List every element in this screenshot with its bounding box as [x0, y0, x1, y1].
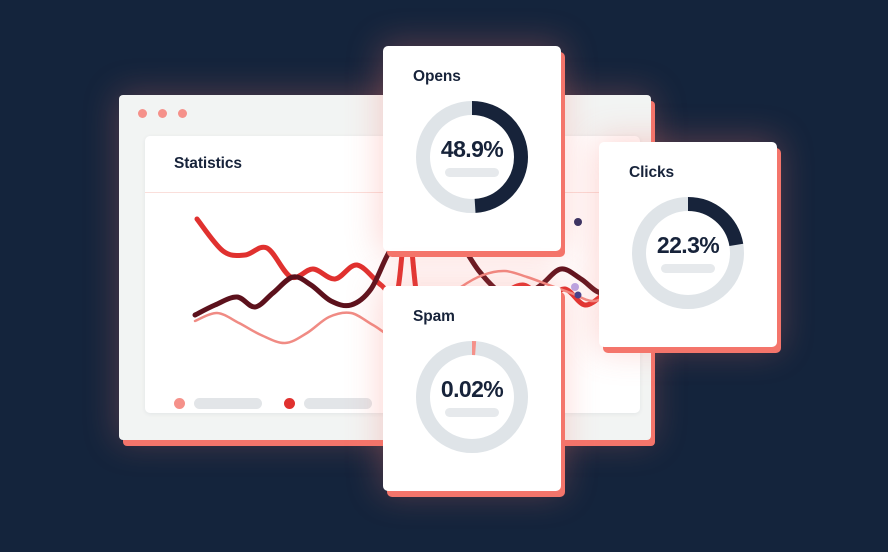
metric-value-spam: 0.02%	[441, 378, 503, 401]
metric-subbar-clicks	[661, 264, 715, 273]
close-dot[interactable]	[138, 109, 147, 118]
metric-subbar-opens	[445, 168, 499, 177]
donut-center-opens: 48.9%	[413, 98, 531, 216]
donut-chart-clicks: 22.3%	[629, 194, 747, 312]
donut-chart-opens: 48.9%	[413, 98, 531, 216]
metric-value-opens: 48.9%	[441, 138, 503, 161]
donut-wrap-opens: 48.9%	[413, 98, 531, 216]
metric-value-clicks: 22.3%	[657, 234, 719, 257]
donut-wrap-spam: 0.02%	[413, 338, 531, 456]
page-title: Statistics	[174, 155, 242, 173]
card-title-opens: Opens	[413, 68, 461, 86]
maximize-dot[interactable]	[178, 109, 187, 118]
metric-subbar-spam	[445, 408, 499, 417]
metric-card-spam[interactable]: Spam 0.02%	[383, 286, 561, 491]
donut-wrap-clicks: 22.3%	[629, 194, 747, 312]
legend-color-dot	[284, 398, 295, 409]
metric-card-clicks[interactable]: Clicks 22.3%	[599, 142, 777, 347]
window-traffic-lights	[138, 109, 187, 118]
legend-item[interactable]	[284, 398, 372, 409]
legend-item[interactable]	[174, 398, 262, 409]
donut-chart-spam: 0.02%	[413, 338, 531, 456]
minimize-dot[interactable]	[158, 109, 167, 118]
donut-center-spam: 0.02%	[413, 338, 531, 456]
metric-card-opens[interactable]: Opens 48.9%	[383, 46, 561, 251]
screenshot-canvas: Statistics	[0, 0, 888, 552]
card-title-spam: Spam	[413, 308, 455, 326]
legend-label-placeholder	[304, 398, 372, 409]
legend-color-dot	[174, 398, 185, 409]
donut-center-clicks: 22.3%	[629, 194, 747, 312]
legend-label-placeholder	[194, 398, 262, 409]
card-title-clicks: Clicks	[629, 164, 674, 182]
